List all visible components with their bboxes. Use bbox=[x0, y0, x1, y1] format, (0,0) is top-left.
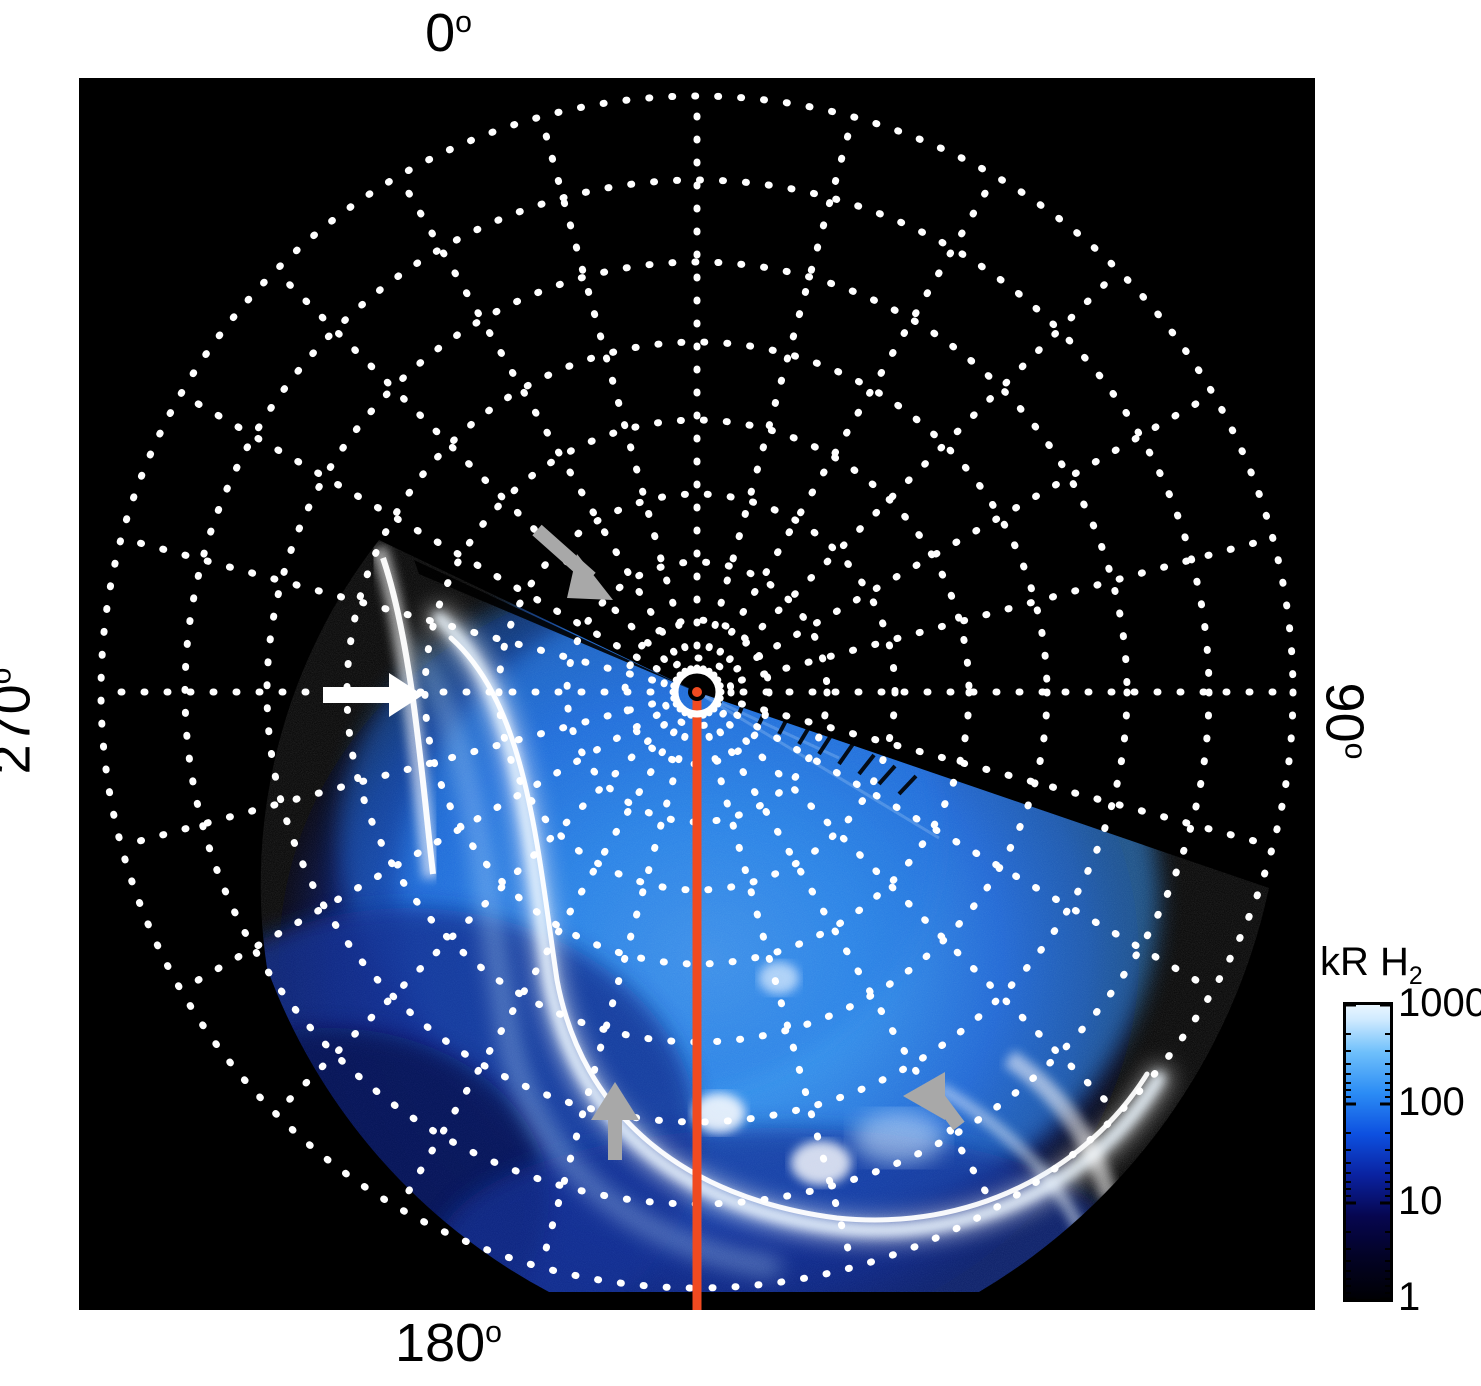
colorbar-title-text: kR H bbox=[1320, 940, 1409, 984]
colorbar-tick-1000: 1000 bbox=[1398, 983, 1481, 1023]
axis-label-0deg: 0o bbox=[0, 6, 1481, 60]
axis-label-90deg-text: 90 bbox=[1314, 683, 1374, 743]
axis-label-90deg: 90o bbox=[1317, 683, 1371, 760]
axis-label-270deg: 270o bbox=[0, 668, 38, 775]
degree-symbol-0: o bbox=[455, 6, 472, 39]
degree-symbol-270: o bbox=[0, 668, 17, 685]
axis-label-270deg-text: 270 bbox=[0, 684, 41, 774]
axis-label-180deg: 180o bbox=[0, 1316, 1481, 1370]
colorbar: kR H2 bbox=[1318, 940, 1481, 1340]
colorbar-tick-marks bbox=[1343, 1002, 1393, 1302]
colorbar-tick-labels: 1000 100 10 1 bbox=[1398, 1002, 1481, 1302]
colorbar-tick-10: 10 bbox=[1398, 1181, 1443, 1221]
colorbar-tick-1: 1 bbox=[1398, 1277, 1420, 1317]
polar-plot-panel bbox=[79, 78, 1315, 1310]
polar-stage bbox=[79, 78, 1315, 1310]
colorbar-tick-100: 100 bbox=[1398, 1082, 1465, 1122]
axis-label-0deg-text: 0 bbox=[425, 3, 455, 63]
axis-label-180deg-text: 180 bbox=[395, 1313, 485, 1373]
figure-root: 0o 180o 270o 90o kR H2 bbox=[0, 0, 1481, 1386]
degree-symbol-180: o bbox=[485, 1316, 502, 1349]
colorbar-title: kR H2 bbox=[1320, 940, 1423, 985]
degree-symbol-90: o bbox=[1338, 743, 1371, 760]
polar-aurora-svg bbox=[79, 78, 1315, 1310]
